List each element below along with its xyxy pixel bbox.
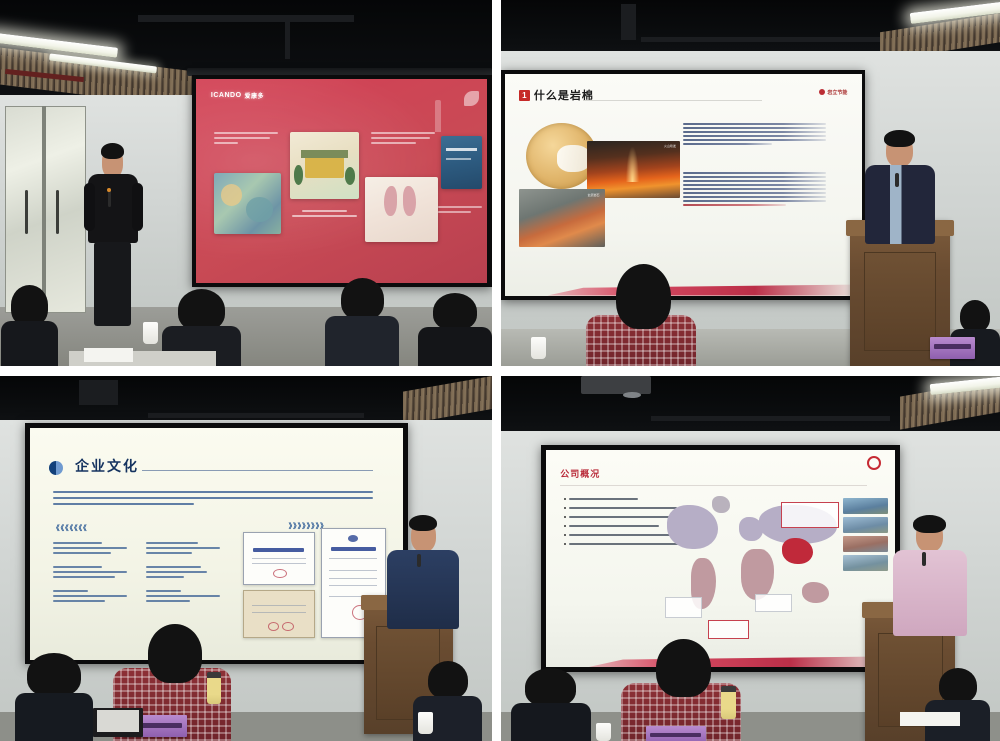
presenter-hair xyxy=(409,515,437,531)
culture-column-right xyxy=(146,542,220,602)
projection-screen-frame: 1 什么是岩棉 岩立节能 火山喷发 xyxy=(501,70,865,301)
logo-mark-text: ICANDO xyxy=(211,92,242,99)
ceiling-beam xyxy=(641,37,881,42)
projection-screen: 1 什么是岩棉 岩立节能 火山喷发 xyxy=(505,74,862,295)
presenter-hair xyxy=(884,130,914,148)
panel-bottom-left[interactable]: 企业文化 《《《《《《《 》》》》》》》》 xyxy=(0,376,492,741)
brand-name-text: 岩立节能 xyxy=(827,89,847,96)
audience-member xyxy=(418,293,492,366)
paper-sheet xyxy=(84,348,133,363)
slide-title-row: 1 什么是岩棉 xyxy=(519,87,594,103)
plant-photo-3 xyxy=(843,536,888,552)
presenter-legs xyxy=(94,242,131,326)
callout-new-industrial-park xyxy=(781,502,839,528)
volcano-image-label: 火山喷发 xyxy=(664,144,676,148)
ceiling-beam xyxy=(138,15,354,22)
slide-footer-accent xyxy=(505,284,862,295)
map-australia xyxy=(802,582,829,603)
ceiling-beam xyxy=(651,416,891,421)
slide-footer-accent xyxy=(546,656,895,667)
slide-number-badge: 1 xyxy=(519,90,530,101)
door-handle-right[interactable] xyxy=(56,190,59,234)
slide-card-blue-poster xyxy=(441,136,482,189)
slide-title: 公司概况 xyxy=(560,467,600,480)
desk-nameplate xyxy=(930,337,975,359)
presenter-torso xyxy=(88,174,138,244)
panel-top-left[interactable]: ICANDO 爱康多 xyxy=(0,0,492,366)
ceiling-beam xyxy=(621,4,636,41)
room-scene-tr: 1 什么是岩棉 岩立节能 火山喷发 xyxy=(501,0,1000,366)
audience-head xyxy=(656,639,711,697)
certificate-sepia xyxy=(243,590,316,638)
slide-text-left xyxy=(214,132,278,144)
presenter-hair xyxy=(913,515,947,534)
microphone[interactable] xyxy=(108,190,111,206)
slide-text-right xyxy=(371,132,435,144)
projection-screen-frame: 企业文化 《《《《《《《 》》》》》》》》 xyxy=(25,423,409,664)
presenter-arm-right xyxy=(132,183,143,231)
certificate-registration xyxy=(243,532,316,585)
audience-head xyxy=(148,624,202,682)
callout-north-america xyxy=(665,597,702,618)
projection-screen: 企业文化 《《《《《《《 》》》》》》》》 xyxy=(30,428,402,659)
plant-photo-4 xyxy=(843,555,888,571)
audience-member xyxy=(511,668,591,741)
decor-tower-icon xyxy=(435,100,441,133)
slide-card-teal-texture xyxy=(214,173,281,234)
paper-sheet xyxy=(900,712,960,727)
slide-title: 什么是岩棉 xyxy=(534,87,594,103)
door-mullion xyxy=(42,106,45,311)
room-scene-tl: ICANDO 爱康多 xyxy=(0,0,492,366)
laptop[interactable] xyxy=(93,708,142,737)
slide-text-lower-right xyxy=(438,206,482,213)
water-cup xyxy=(418,712,433,734)
drink-bottle xyxy=(207,672,222,705)
presenter-navy-suit xyxy=(860,132,940,242)
slide-card-lung-diagram xyxy=(365,177,438,242)
microphone[interactable] xyxy=(417,554,421,567)
slide-body-paragraph-1 xyxy=(683,123,826,145)
presenter-pink-blouse xyxy=(890,515,970,632)
brand-dot-icon xyxy=(819,89,825,95)
ceiling-beam-vertical xyxy=(285,22,290,59)
slide-company-overview: 公司概况 xyxy=(546,450,895,667)
audience-member xyxy=(325,278,399,366)
plant-photo-strip xyxy=(843,498,888,571)
audience-member xyxy=(0,285,59,366)
map-africa xyxy=(741,549,774,599)
rock-quarry-image: 玄武岩石 xyxy=(519,189,605,247)
presenter-jacket xyxy=(387,550,459,629)
slide-red-product: ICANDO 爱康多 xyxy=(196,79,487,283)
map-north-america xyxy=(667,505,718,549)
ceiling-projector xyxy=(581,376,651,394)
drink-bottle xyxy=(721,686,736,719)
presenter-black-shirt xyxy=(79,146,148,329)
presenter-blouse xyxy=(893,550,966,636)
water-cup xyxy=(531,337,546,359)
desk-nameplate xyxy=(646,726,706,741)
ceiling-beam xyxy=(148,413,364,418)
door-handle-left[interactable] xyxy=(25,190,28,234)
plant-photo-2 xyxy=(843,517,888,533)
callout-china-base xyxy=(708,620,749,638)
chevrons-left-decor: 《《《《《《《 xyxy=(53,523,88,533)
audience-head xyxy=(616,264,671,330)
projection-screen: ICANDO 爱康多 xyxy=(196,79,487,283)
logo-cn-text: 爱康多 xyxy=(245,91,265,100)
presenter-arm-left xyxy=(84,183,95,231)
audience-member xyxy=(15,653,94,741)
rock-image-label: 玄武岩石 xyxy=(587,193,599,197)
company-logo-icon xyxy=(867,456,881,470)
slide-title-rule xyxy=(142,470,373,471)
room-scene-br: 公司概况 xyxy=(501,376,1000,741)
culture-column-left xyxy=(53,542,127,602)
photo-collage: ICANDO 爱康多 xyxy=(0,0,1000,741)
audience-member xyxy=(925,668,990,741)
presenter-blue-jacket xyxy=(384,515,463,625)
presenter-suit xyxy=(865,165,935,244)
panel-top-right[interactable]: 1 什么是岩棉 岩立节能 火山喷发 xyxy=(501,0,1000,366)
slide-text-center-question xyxy=(287,210,363,217)
panel-bottom-right[interactable]: 公司概况 xyxy=(501,376,1000,741)
slide-what-is-rockwool: 1 什么是岩棉 岩立节能 火山喷发 xyxy=(505,74,862,295)
slide-brand-logo: 岩立节能 xyxy=(819,89,847,96)
slide-logo: ICANDO 爱康多 xyxy=(211,91,264,100)
slide-intro-paragraph xyxy=(53,491,373,505)
slide-title: 企业文化 xyxy=(75,456,139,476)
microphone[interactable] xyxy=(895,173,899,186)
microphone[interactable] xyxy=(922,552,926,566)
projection-screen-frame: ICANDO 爱康多 xyxy=(192,75,492,287)
slide-title-rule xyxy=(583,100,761,101)
slide-card-house-illustration xyxy=(290,132,360,199)
ceiling-beam xyxy=(79,380,118,406)
decor-bird-icon xyxy=(464,91,479,105)
room-scene-bl: 企业文化 《《《《《《《 》》》》》》》》 xyxy=(0,376,492,741)
moon-icon xyxy=(49,461,63,475)
callout-south-africa xyxy=(755,594,792,612)
map-greenland xyxy=(712,496,730,512)
water-cup xyxy=(596,723,611,741)
projection-screen: 公司概况 xyxy=(546,450,895,667)
water-cup xyxy=(143,322,159,344)
slide-corporate-culture: 企业文化 《《《《《《《 》》》》》》》》 xyxy=(30,428,402,659)
slide-body-paragraph-2 xyxy=(683,172,826,206)
slide-title-rule xyxy=(560,485,867,486)
presenter-hair xyxy=(101,143,124,159)
projection-screen-frame: 公司概况 xyxy=(541,445,900,671)
plant-photo-1 xyxy=(843,498,888,514)
